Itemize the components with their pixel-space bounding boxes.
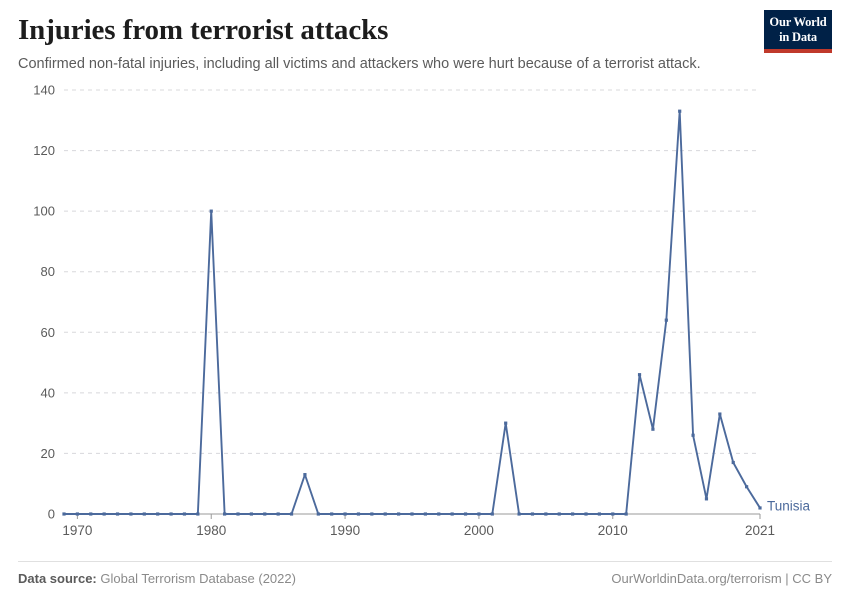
data-point[interactable]	[544, 513, 547, 516]
data-point[interactable]	[464, 513, 467, 516]
data-point[interactable]	[531, 513, 534, 516]
data-point[interactable]	[76, 513, 79, 516]
data-point[interactable]	[678, 110, 681, 113]
x-axis-tick-label: 1990	[330, 523, 360, 538]
data-point[interactable]	[89, 513, 92, 516]
data-point[interactable]	[718, 413, 721, 416]
data-point[interactable]	[410, 513, 413, 516]
data-point[interactable]	[143, 513, 146, 516]
data-point[interactable]	[357, 513, 360, 516]
data-point[interactable]	[558, 513, 561, 516]
data-point[interactable]	[584, 513, 587, 516]
data-point[interactable]	[705, 498, 708, 501]
data-source: Data source: Global Terrorism Database (…	[18, 571, 296, 586]
data-source-value: Global Terrorism Database (2022)	[100, 571, 296, 586]
attribution-link[interactable]: OurWorldinData.org/terrorism | CC BY	[611, 571, 832, 586]
data-point[interactable]	[169, 513, 172, 516]
x-axis-ticks-group: 197019801990200020102021	[62, 514, 775, 538]
data-point[interactable]	[665, 319, 668, 322]
data-point[interactable]	[437, 513, 440, 516]
x-axis-tick-label: 1970	[62, 523, 92, 538]
x-axis-tick-label: 1980	[196, 523, 226, 538]
gridlines-group	[64, 90, 760, 514]
owid-logo[interactable]: Our World in Data	[764, 10, 832, 53]
data-source-label: Data source:	[18, 571, 97, 586]
y-axis-tick-label: 0	[48, 507, 55, 522]
data-point[interactable]	[303, 473, 306, 476]
data-point[interactable]	[691, 434, 694, 437]
data-point[interactable]	[370, 513, 373, 516]
y-axis-ticks-group: 020406080100120140	[33, 83, 55, 522]
data-point[interactable]	[277, 513, 280, 516]
data-point[interactable]	[116, 513, 119, 516]
data-point[interactable]	[477, 513, 480, 516]
data-point[interactable]	[732, 461, 735, 464]
data-point[interactable]	[103, 513, 106, 516]
y-axis-tick-label: 20	[41, 446, 55, 461]
owid-logo-line-1: Our World	[766, 15, 830, 30]
data-point[interactable]	[571, 513, 574, 516]
data-point[interactable]	[223, 513, 226, 516]
line-chart[interactable]: 020406080100120140 197019801990200020102…	[18, 80, 832, 550]
data-point[interactable]	[745, 485, 748, 488]
y-axis-tick-label: 80	[41, 265, 55, 280]
data-point[interactable]	[236, 513, 239, 516]
series-label-tunisia[interactable]: Tunisia	[767, 499, 811, 514]
data-point[interactable]	[210, 210, 213, 213]
data-point[interactable]	[290, 513, 293, 516]
data-point[interactable]	[517, 513, 520, 516]
data-point[interactable]	[384, 513, 387, 516]
page-title: Injuries from terrorist attacks	[18, 14, 832, 46]
data-point[interactable]	[129, 513, 132, 516]
data-point[interactable]	[504, 422, 507, 425]
data-point[interactable]	[343, 513, 346, 516]
data-point[interactable]	[62, 513, 65, 516]
data-point[interactable]	[424, 513, 427, 516]
chart-svg: 020406080100120140 197019801990200020102…	[18, 80, 832, 550]
chart-footer: Data source: Global Terrorism Database (…	[18, 561, 832, 586]
data-point[interactable]	[758, 507, 761, 510]
data-point[interactable]	[183, 513, 186, 516]
x-axis-tick-label: 2021	[745, 523, 775, 538]
y-axis-tick-label: 60	[41, 325, 55, 340]
data-point[interactable]	[397, 513, 400, 516]
owid-logo-line-2: in Data	[766, 30, 830, 45]
data-point[interactable]	[263, 513, 266, 516]
data-point[interactable]	[330, 513, 333, 516]
data-point[interactable]	[491, 513, 494, 516]
y-axis-tick-label: 120	[33, 143, 55, 158]
y-axis-tick-label: 100	[33, 204, 55, 219]
data-point[interactable]	[317, 513, 320, 516]
chart-header: Injuries from terrorist attacks Confirme…	[18, 0, 832, 74]
data-point[interactable]	[451, 513, 454, 516]
data-point[interactable]	[638, 373, 641, 376]
data-point[interactable]	[196, 513, 199, 516]
data-point[interactable]	[625, 513, 628, 516]
chart-page: Injuries from terrorist attacks Confirme…	[0, 0, 850, 600]
x-axis-tick-label: 2010	[598, 523, 628, 538]
series-labels-group: Tunisia	[767, 499, 811, 514]
data-point[interactable]	[611, 513, 614, 516]
data-point[interactable]	[598, 513, 601, 516]
y-axis-tick-label: 40	[41, 386, 55, 401]
data-point[interactable]	[250, 513, 253, 516]
page-subtitle: Confirmed non-fatal injuries, including …	[18, 55, 832, 74]
data-point[interactable]	[156, 513, 159, 516]
data-point[interactable]	[651, 428, 654, 431]
x-axis-tick-label: 2000	[464, 523, 494, 538]
series-group[interactable]	[62, 110, 761, 516]
y-axis-tick-label: 140	[33, 83, 55, 98]
